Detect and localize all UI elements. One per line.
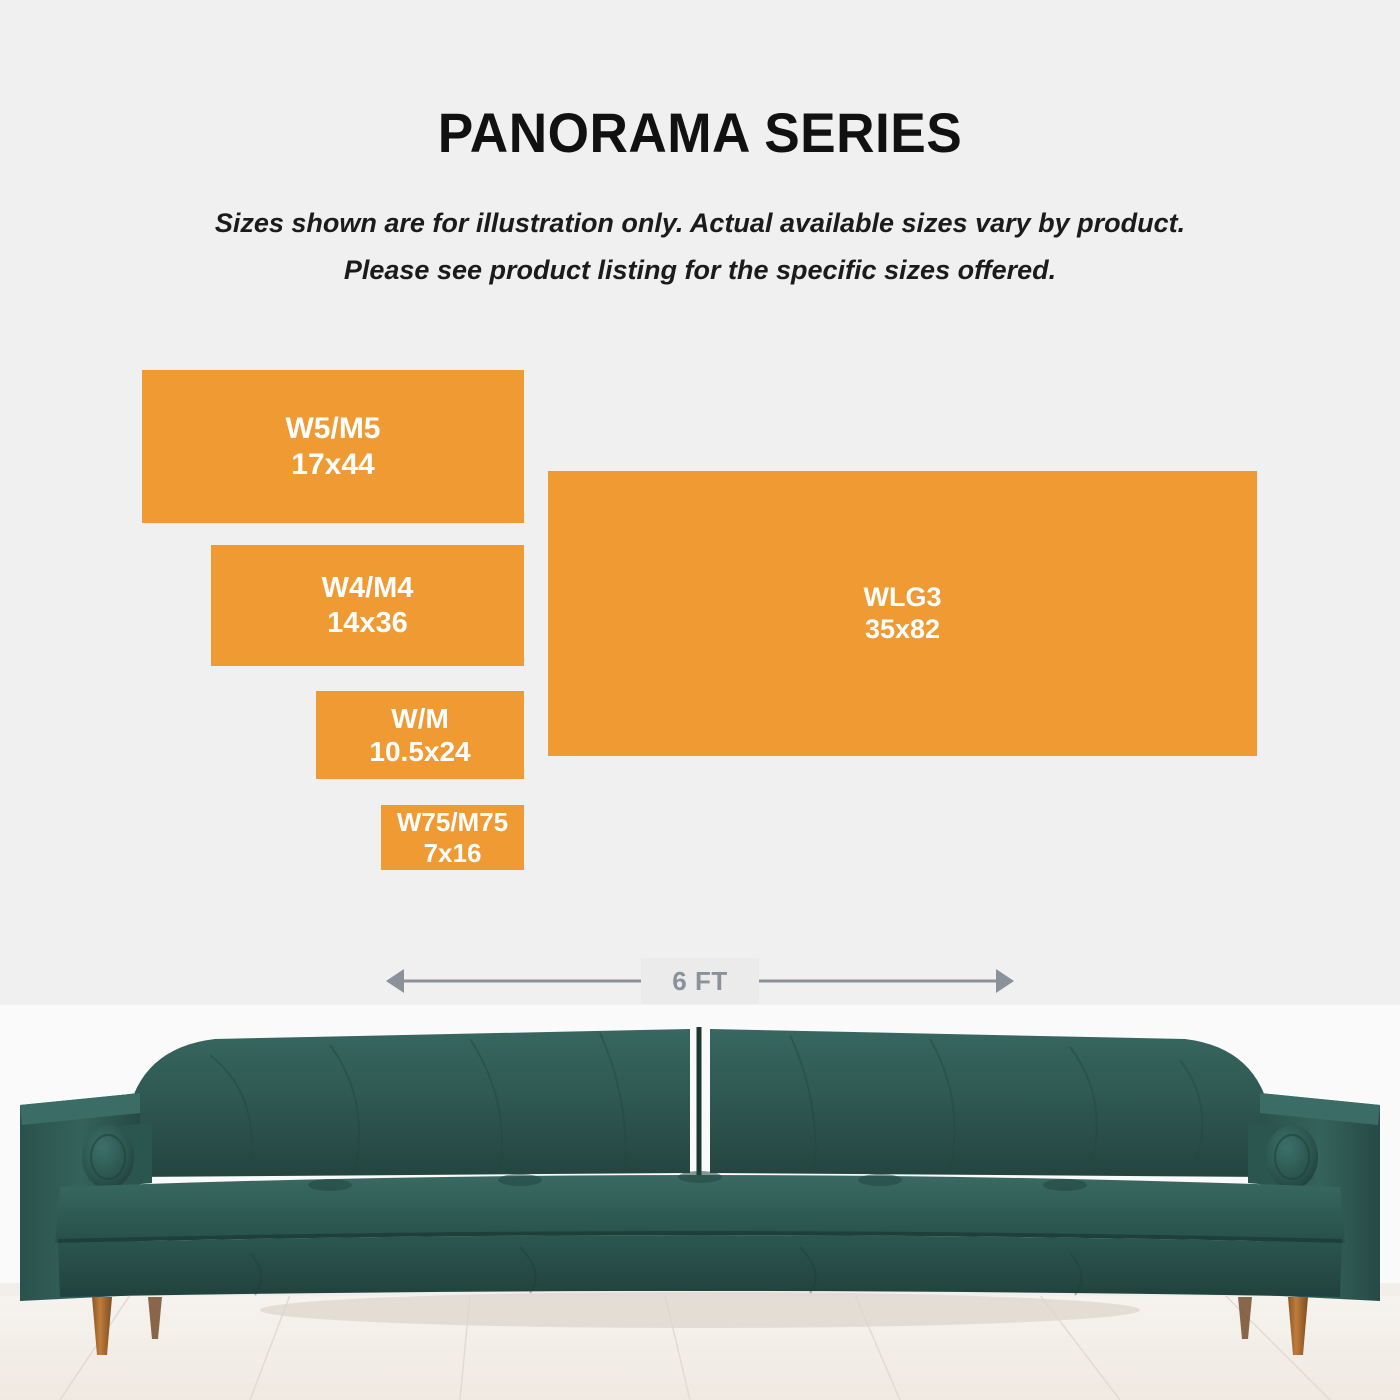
- size-box-dimensions: 35x82: [865, 614, 940, 646]
- back-cushion-right: [710, 1029, 1273, 1177]
- size-box-wm[interactable]: W/M 10.5x24: [316, 691, 524, 779]
- page-subtitle: Sizes shown are for illustration only. A…: [0, 200, 1400, 294]
- size-box-code: WLG3: [864, 582, 942, 614]
- bolster-pillow-left: [82, 1123, 152, 1189]
- size-box-dimensions: 17x44: [291, 447, 374, 482]
- page-title: PANORAMA SERIES: [35, 100, 1365, 165]
- sofa-base: [58, 1235, 1342, 1297]
- sofa-illustration: [0, 1005, 1400, 1400]
- size-box-code: W75/M75: [397, 807, 508, 838]
- size-box-w4m4[interactable]: W4/M4 14x36: [211, 545, 524, 666]
- size-comparison-graphic: PANORAMA SERIES Sizes shown are for illu…: [0, 0, 1400, 1400]
- size-box-w75m75[interactable]: W75/M75 7x16: [381, 805, 524, 870]
- size-box-wlg3[interactable]: WLG3 35x82: [548, 471, 1257, 756]
- size-box-code: W4/M4: [322, 571, 414, 605]
- size-box-dimensions: 7x16: [424, 838, 482, 869]
- size-box-dimensions: 14x36: [327, 606, 408, 640]
- size-box-code: W/M: [391, 702, 449, 735]
- subtitle-line-2: Please see product listing for the speci…: [0, 247, 1400, 294]
- scale-reference-label: 6 FT: [641, 958, 759, 1004]
- arrow-left-icon: [386, 969, 404, 993]
- bolster-pillow-right: [1248, 1123, 1318, 1189]
- arrow-right-icon: [996, 969, 1014, 993]
- subtitle-line-1: Sizes shown are for illustration only. A…: [0, 200, 1400, 247]
- sofa-shadow: [260, 1292, 1140, 1328]
- size-box-dimensions: 10.5x24: [369, 735, 470, 768]
- size-box-w5m5[interactable]: W5/M5 17x44: [142, 370, 524, 523]
- back-cushion-left: [125, 1029, 690, 1177]
- size-box-code: W5/M5: [285, 411, 380, 446]
